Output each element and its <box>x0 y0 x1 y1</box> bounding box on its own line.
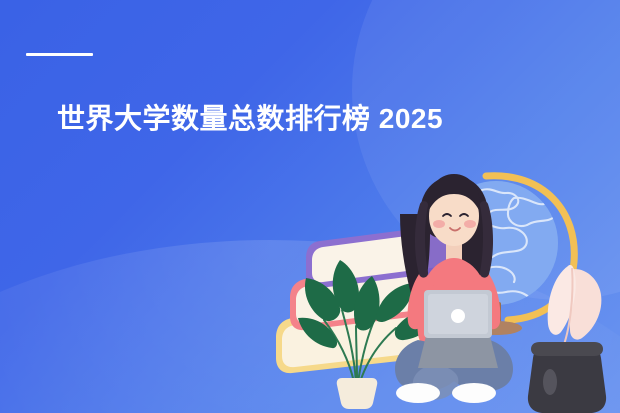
plant-pot <box>337 378 378 409</box>
laptop-logo <box>451 309 465 323</box>
laptop <box>418 290 498 368</box>
page-title: 世界大学数量总数排行榜 2025 <box>57 101 527 137</box>
girl-shoe-left <box>396 383 440 403</box>
illustration <box>268 150 620 413</box>
banner-card: 世界大学数量总数排行榜 2025 <box>0 0 620 413</box>
girl-shoe-right <box>452 383 496 403</box>
inkwell-body <box>528 346 606 413</box>
title-accent-rule <box>26 53 93 56</box>
inkwell-and-quill <box>528 265 606 413</box>
inkwell-highlight <box>543 369 557 395</box>
inkwell-rim <box>531 342 603 356</box>
